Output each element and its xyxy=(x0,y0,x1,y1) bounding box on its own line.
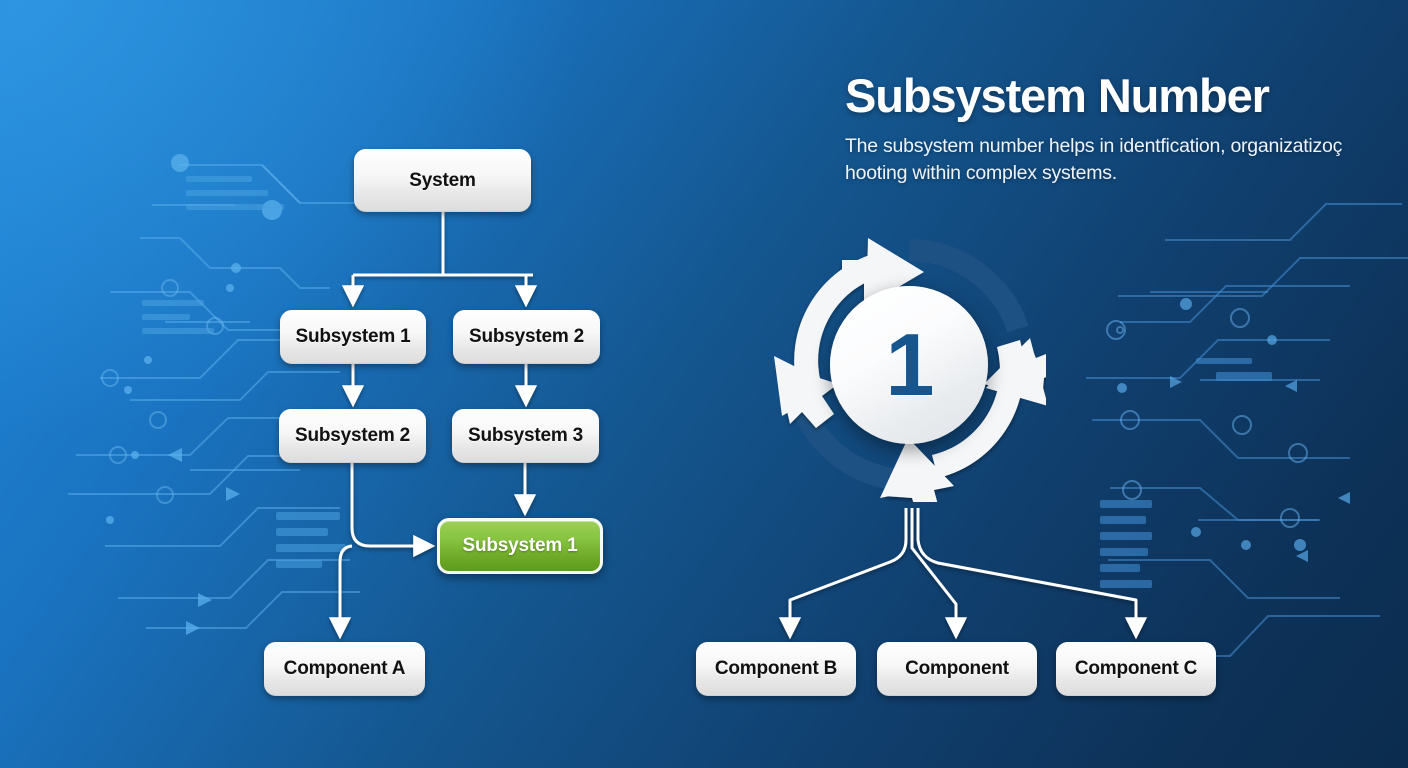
node-component-c[interactable]: Component C xyxy=(1056,642,1216,696)
node-label: Subsystem 2 xyxy=(295,425,410,447)
node-label: Component B xyxy=(715,658,837,680)
node-component[interactable]: Component xyxy=(877,642,1037,696)
node-component-b[interactable]: Component B xyxy=(696,642,856,696)
node-subsystem-3[interactable]: Subsystem 3 xyxy=(452,409,599,463)
node-label: Component A xyxy=(284,658,406,680)
node-label: Subsystem 1 xyxy=(462,535,577,557)
node-label: System xyxy=(409,170,475,192)
node-label: Subsystem 3 xyxy=(468,425,583,447)
infographic-canvas: Subsystem Number The subsystem number he… xyxy=(0,0,1408,768)
node-component-a[interactable]: Component A xyxy=(264,642,425,696)
node-subsystem-1-highlight[interactable]: Subsystem 1 xyxy=(437,518,603,574)
subsystem-number-badge: 1 xyxy=(772,228,1046,502)
node-subsystem-1[interactable]: Subsystem 1 xyxy=(280,310,426,364)
node-system[interactable]: System xyxy=(354,149,531,212)
node-label: Component C xyxy=(1075,658,1197,680)
page-title: Subsystem Number xyxy=(845,72,1365,120)
headline-block: Subsystem Number The subsystem number he… xyxy=(845,72,1365,187)
node-subsystem-2[interactable]: Subsystem 2 xyxy=(453,310,600,364)
badge-number: 1 xyxy=(886,321,933,409)
badge-circle: 1 xyxy=(830,286,988,444)
page-subtitle: The subsystem number helps in identficat… xyxy=(845,133,1365,187)
node-label: Subsystem 2 xyxy=(469,326,584,348)
node-label: Subsystem 1 xyxy=(295,326,410,348)
node-subsystem-2b[interactable]: Subsystem 2 xyxy=(279,409,426,463)
node-label: Component xyxy=(905,658,1009,680)
